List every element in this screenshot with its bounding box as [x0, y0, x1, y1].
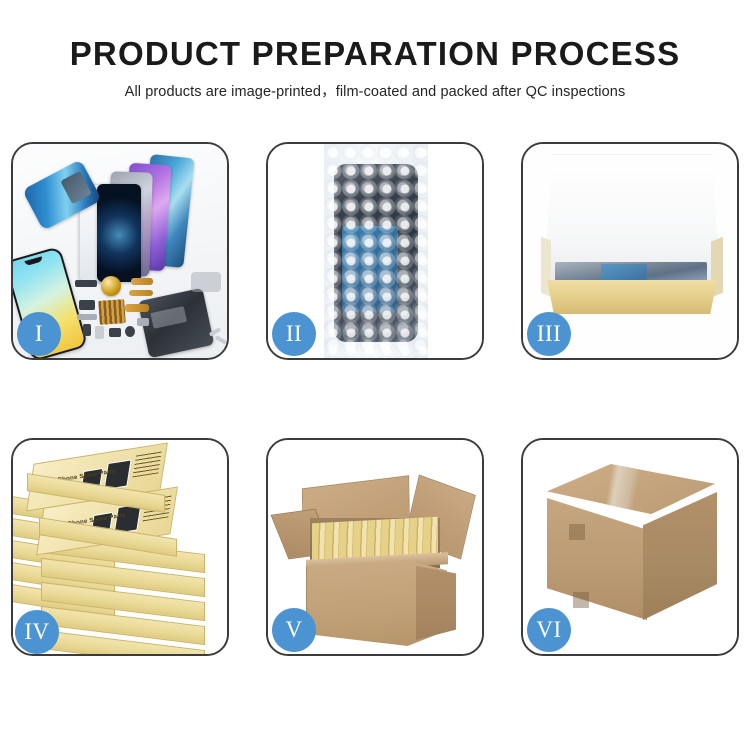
- step-panel-4[interactable]: Mobile Phone Spare Parts Mobile Phone Sp…: [11, 438, 229, 656]
- spare-part: [77, 314, 97, 320]
- grid-chip-part: [98, 299, 126, 325]
- step-badge-6: VI: [527, 608, 571, 652]
- step-badge-5: V: [272, 608, 316, 652]
- product-preparation-infographic: PRODUCT PREPARATION PROCESS All products…: [0, 0, 750, 750]
- step-panel-2[interactable]: II: [266, 142, 484, 360]
- step-panel-1[interactable]: I: [11, 142, 229, 360]
- carton-body-side: [416, 566, 456, 640]
- bubble-texture: [324, 144, 428, 358]
- spare-part: [125, 326, 135, 337]
- carton-handle-notch: [569, 524, 585, 540]
- spare-part: [125, 304, 149, 312]
- spare-part: [95, 326, 104, 339]
- spare-part: [109, 328, 121, 337]
- steps-grid: I II III: [11, 142, 739, 656]
- carton-handle-notch: [573, 592, 589, 608]
- spare-part: [137, 318, 149, 326]
- spare-part: [131, 278, 153, 285]
- page-subtitle: All products are image-printed，film-coat…: [0, 82, 750, 102]
- spare-part: [83, 324, 91, 336]
- step-badge-4: IV: [15, 610, 59, 654]
- box-front-kraft: [547, 280, 717, 314]
- spare-part: [79, 300, 95, 310]
- step-badge-1: I: [17, 312, 61, 356]
- header: PRODUCT PREPARATION PROCESS All products…: [0, 34, 750, 102]
- step-panel-6[interactable]: VI: [521, 438, 739, 656]
- step-panel-5[interactable]: V: [266, 438, 484, 656]
- page-title: PRODUCT PREPARATION PROCESS: [0, 34, 750, 74]
- spare-part: [191, 272, 221, 292]
- spare-part: [129, 290, 153, 296]
- spare-part: [75, 280, 97, 287]
- phone-dark-display: [97, 184, 141, 282]
- gold-coil-part: [101, 276, 121, 296]
- step-panel-3[interactable]: III: [521, 142, 739, 360]
- step-badge-3: III: [527, 312, 571, 356]
- step-badge-2: II: [272, 312, 316, 356]
